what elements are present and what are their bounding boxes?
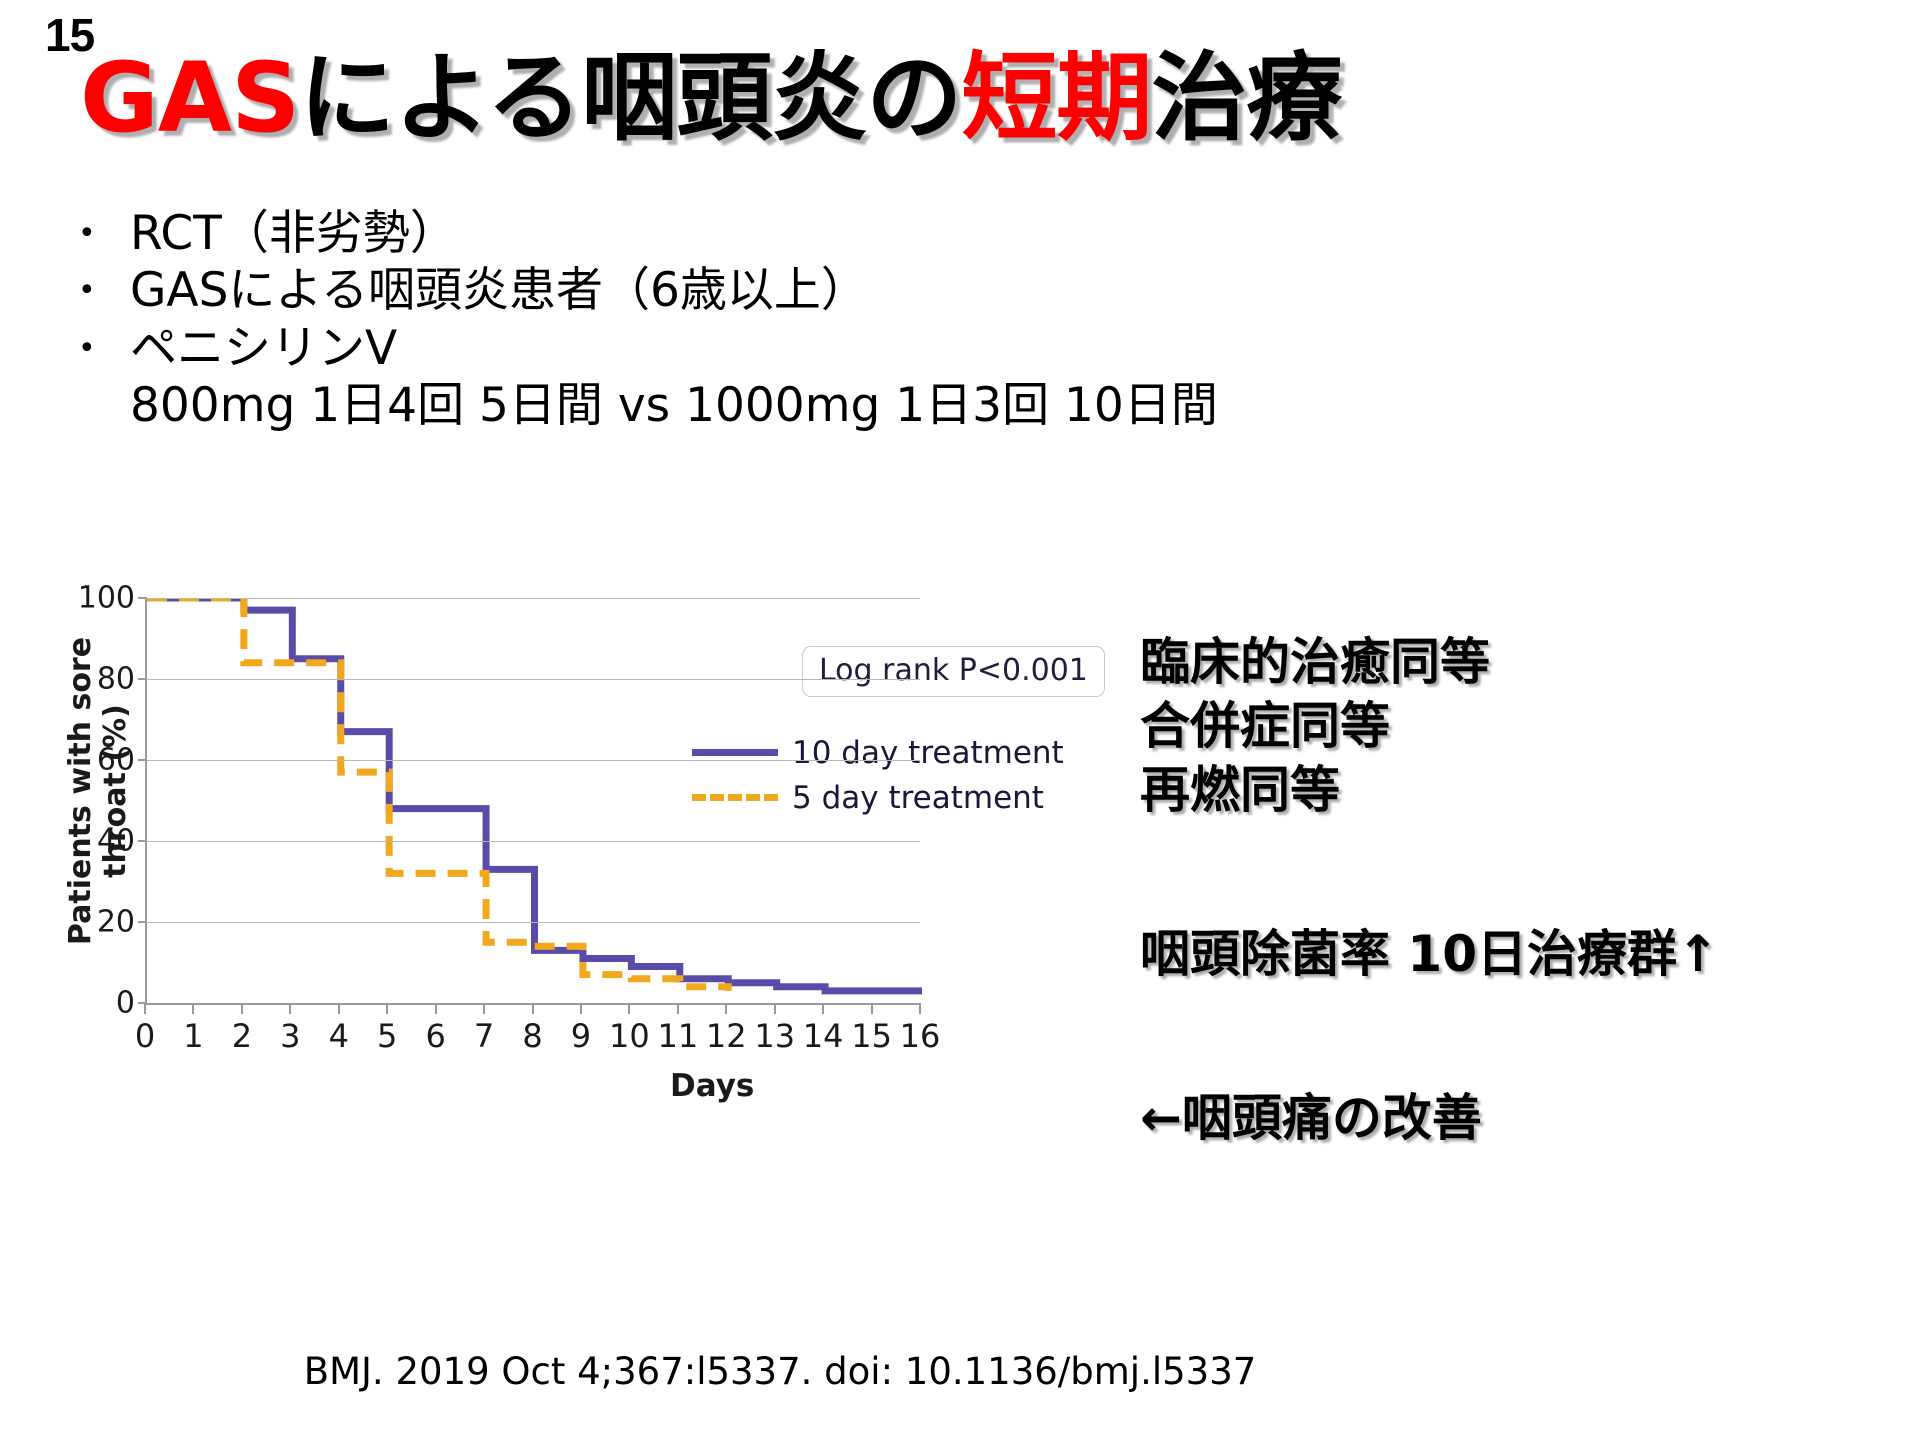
bullet-dot-icon: • [78, 262, 130, 319]
x-tick-mark [725, 1003, 727, 1014]
dose-regimen-line: 800mg 1日4回 5日間 vs 1000mg 1日3回 10日間 [130, 377, 1478, 434]
x-tick-mark [338, 1003, 340, 1014]
x-tick-mark [919, 1003, 921, 1014]
gridline [147, 598, 920, 599]
x-tick-label: 11 [657, 1017, 698, 1055]
list-item-label: GASによる咽頭炎患者（6歳以上） [130, 262, 1478, 319]
x-tick-mark [774, 1003, 776, 1014]
legend-line-dashed-icon [692, 794, 778, 801]
kaplan-meier-chart: Patients with sore throat (%) Log rank P… [30, 588, 1140, 1068]
gridline [147, 841, 920, 842]
x-axis: 012345678910111213141516 [145, 1003, 920, 1005]
list-item: • GASによる咽頭炎患者（6歳以上） [78, 262, 1478, 319]
y-tick-mark [138, 597, 147, 599]
title-part-end: 治療 [1151, 42, 1341, 154]
gridline [147, 922, 920, 923]
x-tick-mark [628, 1003, 630, 1014]
list-item-label: RCT（非劣勢） [130, 205, 1478, 262]
y-tick-mark [138, 678, 147, 680]
y-tick-label: 60 [97, 743, 135, 778]
series-line-5day [147, 598, 728, 991]
y-tick-label: 80 [97, 662, 135, 697]
annotation-eradication-rate: 咽頭除菌率 10日治療群↑ [1140, 922, 1900, 986]
list-item-label: ペニシリンV [130, 320, 1478, 377]
bullet-dot-icon: • [78, 205, 130, 262]
x-tick-label: 7 [474, 1017, 494, 1055]
gridline [147, 679, 920, 680]
x-tick-label: 9 [571, 1017, 591, 1055]
log-rank-annotation: Log rank P<0.001 [802, 646, 1105, 697]
y-tick-mark [138, 759, 147, 761]
legend-label-5day: 5 day treatment [792, 780, 1044, 816]
x-tick-label: 5 [377, 1017, 397, 1055]
y-tick-label: 0 [116, 986, 135, 1021]
annotation-group: 臨床的治癒同等 合併症同等 再燃同等 咽頭除菌率 10日治療群↑ ←咽頭痛の改善 [1140, 630, 1900, 1150]
plot-area: Log rank P<0.001 10 day treatment 5 day … [145, 598, 920, 1003]
x-tick-label: 14 [803, 1017, 844, 1055]
legend-label-10day: 10 day treatment [792, 735, 1064, 771]
citation: BMJ. 2019 Oct 4;367:l5337. doi: 10.1136/… [0, 1350, 1560, 1393]
annotation-sore-throat-improvement: ←咽頭痛の改善 [1140, 1086, 1900, 1150]
x-tick-label: 2 [232, 1017, 252, 1055]
x-axis-label: Days [670, 1068, 754, 1104]
x-tick-label: 6 [425, 1017, 445, 1055]
y-tick-label: 20 [97, 905, 135, 940]
legend-item-5day: 5 day treatment [692, 775, 1052, 820]
title-part-mid: による咽頭炎の [299, 42, 961, 154]
x-tick-mark [580, 1003, 582, 1014]
x-tick-mark [289, 1003, 291, 1014]
bullet-list: • RCT（非劣勢） • GASによる咽頭炎患者（6歳以上） • ペニシリンV … [78, 205, 1478, 434]
x-tick-mark [677, 1003, 679, 1014]
x-tick-label: 1 [183, 1017, 203, 1055]
x-tick-label: 0 [135, 1017, 155, 1055]
legend-line-solid-icon [692, 749, 778, 756]
y-tick-mark [138, 840, 147, 842]
gridline [147, 760, 920, 761]
x-tick-mark [871, 1003, 873, 1014]
x-tick-mark [386, 1003, 388, 1014]
annotation-complications: 合併症同等 [1140, 694, 1900, 758]
title-part-gas: GAS [80, 42, 299, 154]
x-tick-label: 15 [851, 1017, 892, 1055]
x-tick-mark [435, 1003, 437, 1014]
x-tick-mark [822, 1003, 824, 1014]
x-tick-label: 12 [706, 1017, 747, 1055]
title-part-short: 短期 [961, 42, 1151, 154]
x-tick-mark [241, 1003, 243, 1014]
list-item: • ペニシリンV [78, 320, 1478, 377]
x-tick-label: 4 [329, 1017, 349, 1055]
y-tick-label: 100 [78, 581, 135, 616]
x-tick-label: 3 [280, 1017, 300, 1055]
x-tick-mark [192, 1003, 194, 1014]
y-tick-label: 40 [97, 824, 135, 859]
chart-legend: 10 day treatment 5 day treatment [692, 730, 1052, 820]
x-tick-mark [144, 1003, 146, 1014]
x-tick-mark [532, 1003, 534, 1014]
annotation-relapse: 再燃同等 [1140, 758, 1900, 822]
x-tick-mark [483, 1003, 485, 1014]
x-tick-label: 8 [522, 1017, 542, 1055]
x-tick-label: 13 [754, 1017, 795, 1055]
page-title: GASによる咽頭炎の短期治療 [80, 48, 1880, 149]
annotation-clinical-cure: 臨床的治癒同等 [1140, 630, 1900, 694]
x-tick-label: 16 [900, 1017, 941, 1055]
list-item: • RCT（非劣勢） [78, 205, 1478, 262]
legend-item-10day: 10 day treatment [692, 730, 1052, 775]
bullet-dot-icon: • [78, 320, 130, 377]
x-tick-label: 10 [609, 1017, 650, 1055]
y-tick-mark [138, 921, 147, 923]
